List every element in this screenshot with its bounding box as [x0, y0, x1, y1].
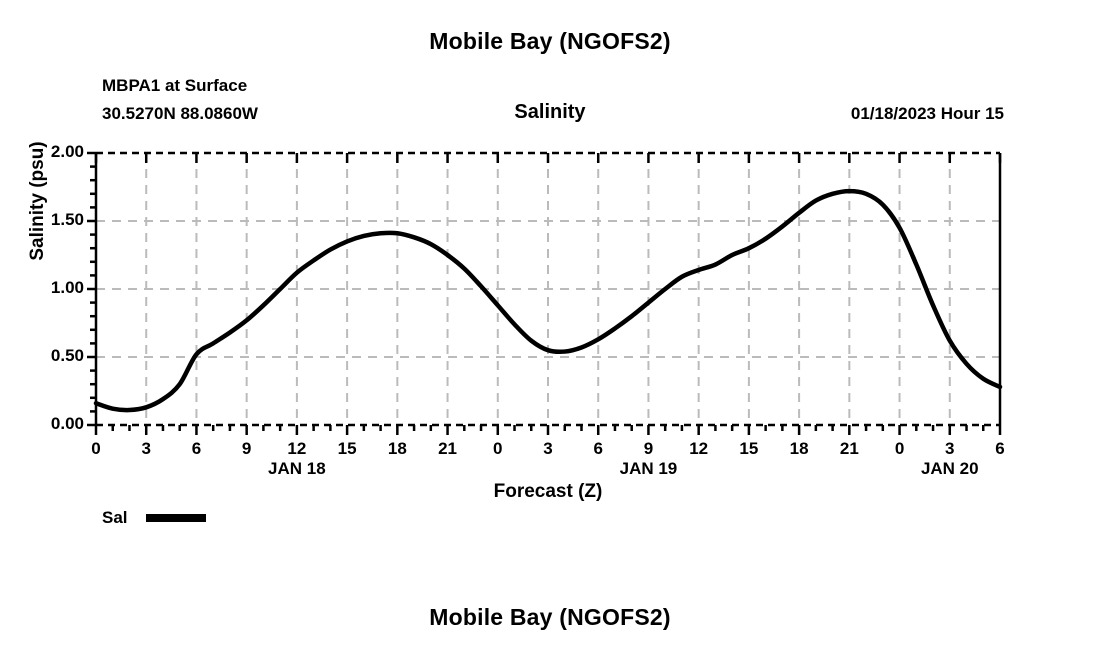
y-tick-label: 1.50 [14, 210, 84, 230]
x-tick-label: 12 [679, 439, 719, 459]
page-title-bottom: Mobile Bay (NGOFS2) [0, 604, 1100, 631]
x-tick-label: 3 [126, 439, 166, 459]
x-tick-label: 6 [980, 439, 1020, 459]
legend-label-sal: Sal [102, 508, 128, 528]
x-tick-label: 15 [729, 439, 769, 459]
x-tick-label: 18 [377, 439, 417, 459]
y-tick-label: 0.00 [14, 414, 84, 434]
day-label: JAN 20 [880, 459, 1020, 479]
x-tick-label: 15 [327, 439, 367, 459]
legend: Sal [102, 508, 206, 528]
x-tick-label: 0 [880, 439, 920, 459]
y-tick-label: 0.50 [14, 346, 84, 366]
chart-page: Mobile Bay (NGOFS2) MBPA1 at Surface 30.… [0, 0, 1100, 650]
x-tick-label: 0 [478, 439, 518, 459]
x-tick-label: 9 [227, 439, 267, 459]
y-tick-label: 1.00 [14, 278, 84, 298]
axis-ticks [87, 153, 1000, 435]
x-tick-label: 3 [930, 439, 970, 459]
x-tick-label: 12 [277, 439, 317, 459]
x-tick-label: 21 [428, 439, 468, 459]
x-tick-label: 3 [528, 439, 568, 459]
y-tick-label: 2.00 [14, 142, 84, 162]
x-tick-label: 9 [628, 439, 668, 459]
x-tick-label: 0 [76, 439, 116, 459]
day-label: JAN 19 [578, 459, 718, 479]
x-tick-label: 18 [779, 439, 819, 459]
plot-area [0, 0, 1100, 650]
salinity-line-chart [0, 0, 1100, 650]
x-tick-label: 6 [176, 439, 216, 459]
x-tick-label: 21 [829, 439, 869, 459]
day-label: JAN 18 [227, 459, 367, 479]
x-tick-label: 6 [578, 439, 618, 459]
legend-swatch-sal [146, 514, 206, 522]
